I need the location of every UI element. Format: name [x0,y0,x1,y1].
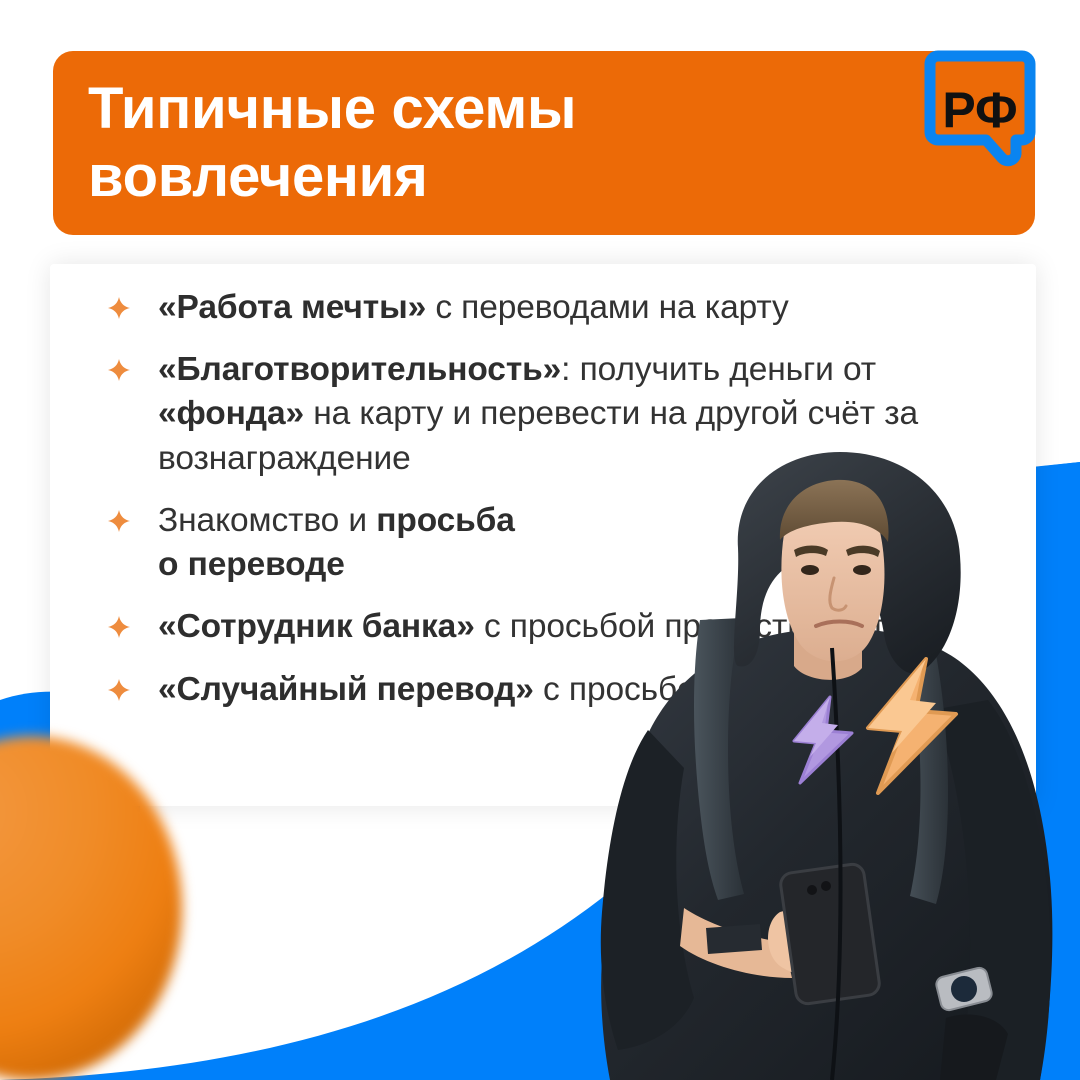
rf-logo: РФ [924,46,1036,168]
right-hand-pocket [940,1015,1008,1080]
list-item: «Работа мечты» с переводами на карту [106,286,986,330]
lightning-bolt-orange-icon [856,656,966,796]
jacket-pocket [706,924,762,954]
lightning-bolt-purple-icon [786,695,858,785]
phone-camera [807,885,817,895]
poster-canvas: Типичные схемы вовлечения РФ «Работа меч… [0,0,1080,1080]
logo-letters: РФ [942,82,1017,138]
eye-left [801,565,819,575]
diamond-icon [108,359,130,381]
eye-right [853,565,871,575]
diamond-icon [108,297,130,319]
diamond-icon [108,510,130,532]
diamond-icon [108,616,130,638]
header-banner: Типичные схемы вовлечения [53,51,1035,235]
watch-face [951,976,977,1002]
diamond-icon [108,679,130,701]
phone-camera-2 [821,881,831,891]
list-item-text: Знакомство и просьбао переводе [158,502,515,583]
list-item-text: «Работа мечты» с переводами на карту [158,289,789,326]
page-title: Типичные схемы вовлечения [88,75,848,211]
